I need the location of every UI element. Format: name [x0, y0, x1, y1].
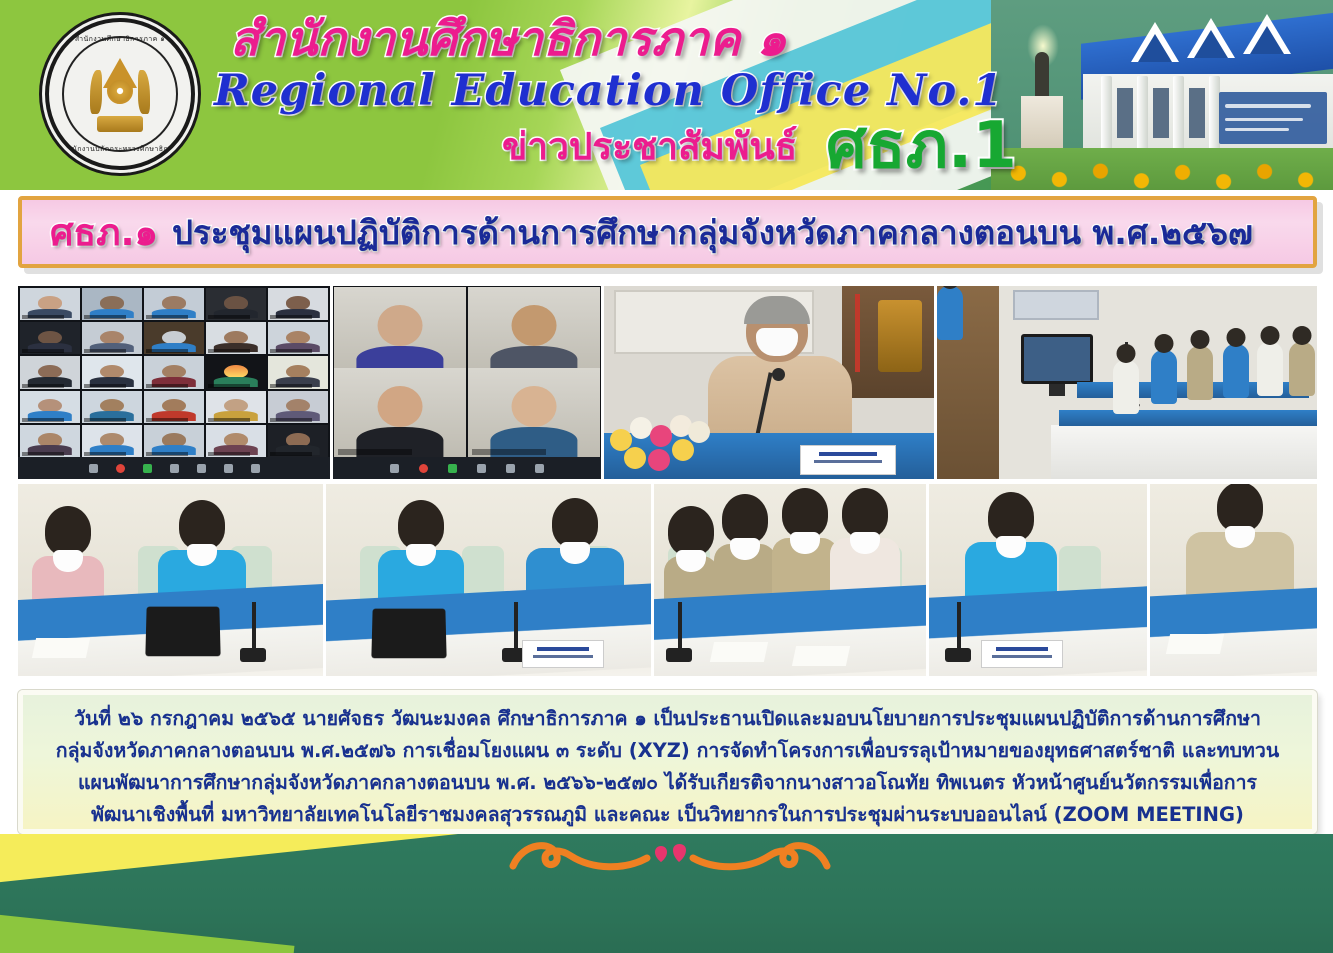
building-window-3 — [1189, 88, 1205, 138]
microphone — [957, 602, 961, 654]
flower-bouquet — [608, 415, 712, 477]
room-attendee — [937, 286, 963, 340]
seal-emblem-base — [97, 116, 143, 132]
microphone — [252, 602, 256, 654]
conference-desk — [654, 585, 926, 676]
building-column-3 — [1173, 76, 1184, 158]
seal-emblem-dharma-wheel-icon — [107, 78, 133, 104]
room-attendee — [1187, 346, 1213, 400]
zoom-tile — [20, 425, 80, 457]
zoom-tile — [206, 391, 266, 423]
zoom-tile — [82, 391, 142, 423]
building-signboard — [1219, 92, 1327, 144]
title-banner: ศธภ.๑ ประชุมแผนปฏิบัติการด้านการศึกษากลุ… — [18, 196, 1317, 268]
body-line-3: แผนพัฒนาการศึกษากลุ่มจังหวัดภาคกลางตอนบน… — [39, 767, 1296, 799]
zoom-tile — [82, 288, 142, 320]
zoom-grid-tiles — [20, 288, 328, 457]
body-line-4: พัฒนาเชิงพื้นที่ มหาวิทยาลัยเทคโนโลยีราช… — [39, 799, 1296, 831]
seal-emblem-wing-left — [90, 70, 102, 114]
zoom-tile — [206, 288, 266, 320]
name-plate — [981, 640, 1063, 668]
zoom-tile — [144, 322, 204, 354]
zoom-tile — [268, 288, 328, 320]
zoom-tile — [206, 425, 266, 457]
body-line-2: กลุ่มจังหวัดภาคกลางตอนบน พ.ศ.๒๕๗๖ การเชื… — [39, 735, 1296, 767]
zoom-tile — [82, 322, 142, 354]
zoom-toolbar[interactable] — [18, 457, 330, 479]
infographic-poster: สำนักงานศึกษาธิการภาค ๑ สำนักงานปลัดกระท… — [0, 0, 1333, 953]
zoom-chat-icon[interactable] — [116, 464, 125, 473]
laptop — [145, 607, 220, 657]
zoom-participant-tile — [468, 368, 600, 457]
zoom-tile — [20, 322, 80, 354]
zoom-share-screen-icon[interactable] — [448, 464, 457, 473]
room-attendee — [1113, 360, 1139, 414]
document-paper — [710, 642, 768, 662]
microphone-base — [666, 648, 692, 662]
title-banner-text: ประชุมแผนปฏิบัติการด้านการศึกษากลุ่มจังห… — [172, 206, 1253, 259]
building-gable-2 — [1187, 18, 1235, 58]
document-paper — [32, 638, 90, 658]
monitor-stand — [1049, 384, 1065, 396]
zoom-chat-icon[interactable] — [419, 464, 428, 473]
laptop — [371, 609, 446, 659]
zoom-apps-icon[interactable] — [535, 464, 544, 473]
zoom-participants-icon[interactable] — [390, 464, 399, 473]
header-org-english: Regional Education Office No.1 — [214, 70, 1003, 113]
header-org-thai: สำนักงานศึกษาธิการภาค ๑ — [230, 16, 787, 63]
zoom-record-icon[interactable] — [477, 464, 486, 473]
photo-staff-with-laptop-center — [326, 484, 651, 676]
room-table-row-2 — [1059, 410, 1317, 426]
zoom-tile — [268, 391, 328, 423]
zoom-tile — [206, 356, 266, 388]
poster-footer: G สำนักงานศึกษาธิการภาค ๑ บริเวณวงเวียนเ… — [0, 834, 1333, 953]
building-column-1 — [1101, 76, 1112, 158]
zoom-tile — [144, 425, 204, 457]
room-projection-screen — [1013, 290, 1099, 320]
building-window-1 — [1117, 88, 1133, 138]
room-attendee — [1257, 342, 1283, 396]
photo-chairman-at-meeting-table — [604, 286, 934, 479]
seal-emblem-icon — [88, 54, 152, 134]
microphone — [514, 602, 518, 654]
building-gable-3 — [1243, 14, 1291, 54]
zoom-tile — [20, 391, 80, 423]
zoom-reactions-icon[interactable] — [197, 464, 206, 473]
zoom-tile — [82, 425, 142, 457]
photo-collage — [18, 286, 1317, 676]
microphone-head — [772, 368, 785, 381]
notebook — [792, 646, 850, 666]
header-news-label: ข่าวประชาสัมพันธ์ — [502, 128, 797, 165]
table-cloth — [1051, 425, 1317, 479]
zoom-reactions-icon[interactable] — [506, 464, 515, 473]
zoom-participant-tile — [334, 287, 466, 376]
name-plate — [800, 445, 896, 475]
zoom-tile — [144, 356, 204, 388]
royal-shrine — [878, 300, 922, 372]
zoom-participant-tile — [334, 368, 466, 457]
room-attendee — [1151, 350, 1177, 404]
zoom-tile — [268, 425, 328, 457]
organization-seal-logo: สำนักงานศึกษาธิการภาค ๑ สำนักงานปลัดกระท… — [45, 18, 195, 170]
zoom-participant-tile — [468, 287, 600, 376]
zoom-tile — [206, 322, 266, 354]
zoom-tile — [268, 322, 328, 354]
seal-top-text: สำนักงานศึกษาธิการภาค ๑ — [49, 34, 191, 45]
photo-zoom-gallery-grid — [18, 286, 330, 479]
conference-desk — [1150, 587, 1317, 676]
photo-meeting-room-wide-view — [937, 286, 1317, 479]
zoom-tile — [144, 288, 204, 320]
photo-officials-in-uniform — [654, 484, 926, 676]
zoom-share-screen-icon[interactable] — [143, 464, 152, 473]
news-body-text-box: วันที่ ๒๖ กรกฎาคม ๒๕๖๕ นายศัจธร วัฒนะมงค… — [18, 690, 1317, 834]
decorative-flourish-hearts — [505, 836, 835, 876]
title-banner-badge: ศธภ.๑ — [50, 203, 158, 262]
footer-yellow-wedge — [0, 834, 523, 886]
zoom-tile — [268, 356, 328, 388]
photo-staff-with-laptop-left — [18, 484, 323, 676]
flag-pole — [855, 294, 860, 372]
poster-header: สำนักงานศึกษาธิการภาค ๑ สำนักงานปลัดกระท… — [0, 0, 1333, 190]
zoom-record-icon[interactable] — [170, 464, 179, 473]
zoom-participants-icon[interactable] — [89, 464, 98, 473]
zoom-apps-icon[interactable] — [224, 464, 233, 473]
zoom-toolbar[interactable] — [333, 457, 601, 479]
microphone-base — [945, 648, 971, 662]
photo-staff-taking-notes — [929, 484, 1147, 676]
microphone — [678, 602, 682, 654]
room-attendee — [1223, 344, 1249, 398]
header-badge: ศธภ.1 — [826, 114, 1017, 178]
building-gable-1 — [1131, 22, 1179, 62]
building-window-2 — [1153, 88, 1169, 138]
document-paper — [1166, 634, 1224, 654]
zoom-tile — [20, 288, 80, 320]
seal-emblem-wing-right — [138, 70, 150, 114]
body-line-1: วันที่ ๒๖ กรกฎาคม ๒๕๖๕ นายศัจธร วัฒนะมงค… — [39, 703, 1296, 735]
microphone-base — [240, 648, 266, 662]
building-column-2 — [1137, 76, 1148, 158]
room-attendee — [1289, 342, 1315, 396]
zoom-tile — [144, 391, 204, 423]
photo-official-reading-document — [1150, 484, 1317, 676]
footer-green-wedge — [0, 911, 294, 953]
zoom-tile — [20, 356, 80, 388]
name-plate — [522, 640, 604, 668]
zoom-whiteboard-icon[interactable] — [251, 464, 260, 473]
seal-bottom-text: สำนักงานปลัดกระทรวงศึกษาธิการ — [49, 144, 191, 155]
header-title-block: สำนักงานศึกษาธิการภาค ๑ Regional Educati… — [212, 10, 1052, 185]
zoom-tile — [82, 356, 142, 388]
photo-zoom-four-participants — [333, 286, 601, 479]
room-monitor — [1021, 334, 1093, 384]
